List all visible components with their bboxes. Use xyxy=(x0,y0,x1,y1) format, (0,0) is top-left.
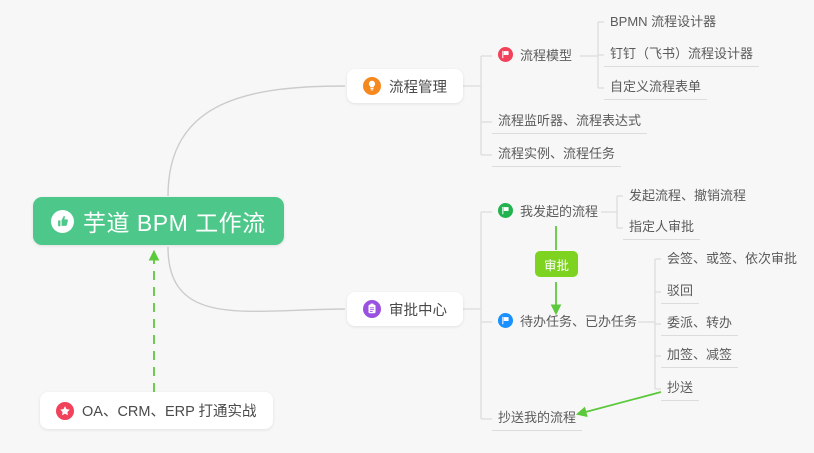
flag-icon-red xyxy=(498,47,513,62)
label-reject: 驳回 xyxy=(667,280,693,299)
label-process-model: 流程模型 xyxy=(520,45,572,64)
clipboard-icon xyxy=(363,300,381,318)
integration-node[interactable]: OA、CRM、ERP 打通实战 xyxy=(40,392,273,429)
node-custom-process-form[interactable]: 自定义流程表单 xyxy=(604,76,707,100)
label-assignee-approval: 指定人审批 xyxy=(629,216,694,235)
branch-label-approval-center: 审批中心 xyxy=(389,299,447,320)
label-cc-to-me: 抄送我的流程 xyxy=(498,407,576,426)
node-reject[interactable]: 驳回 xyxy=(661,280,699,304)
integration-node-label: OA、CRM、ERP 打通实战 xyxy=(82,400,257,421)
label-delegate-transfer: 委派、转办 xyxy=(667,312,732,331)
label-add-remove-sign: 加签、减签 xyxy=(667,344,732,363)
label-bpmn-designer: BPMN 流程设计器 xyxy=(610,11,716,30)
node-start-cancel[interactable]: 发起流程、撤销流程 xyxy=(623,184,752,208)
lightbulb-icon xyxy=(363,77,381,95)
label-instance-task: 流程实例、流程任务 xyxy=(498,143,615,162)
flag-icon-green xyxy=(498,203,513,218)
node-countersign[interactable]: 会签、或签、依次审批 xyxy=(661,247,803,271)
node-cc-to-me[interactable]: 抄送我的流程 xyxy=(492,407,582,431)
root-label: 芋道 BPM 工作流 xyxy=(83,204,266,238)
node-listener-expression[interactable]: 流程监听器、流程表达式 xyxy=(492,110,647,134)
thumbs-up-icon xyxy=(51,210,74,233)
label-cc: 抄送 xyxy=(667,377,693,396)
node-dingtalk-feishu-designer[interactable]: 钉钉（飞书）流程设计器 xyxy=(604,43,759,67)
branch-node-process-management[interactable]: 流程管理 xyxy=(347,69,463,103)
wire-root-to-process-management xyxy=(168,86,345,196)
branch-node-approval-center[interactable]: 审批中心 xyxy=(347,292,463,326)
label-todo-done-tasks: 待办任务、已办任务 xyxy=(520,311,637,330)
label-custom-process-form: 自定义流程表单 xyxy=(610,76,701,95)
node-my-initiated[interactable]: 我发起的流程 xyxy=(492,200,604,224)
label-dingtalk-feishu-designer: 钉钉（飞书）流程设计器 xyxy=(610,43,753,62)
wire-root-to-approval-center xyxy=(168,247,345,311)
node-process-model[interactable]: 流程模型 xyxy=(492,44,578,68)
node-cc[interactable]: 抄送 xyxy=(661,377,699,401)
label-countersign: 会签、或签、依次审批 xyxy=(667,248,797,267)
node-add-remove-sign[interactable]: 加签、减签 xyxy=(661,344,738,368)
star-icon xyxy=(56,402,74,420)
arrow-cc-to-cc-to-me xyxy=(578,392,661,414)
root-node[interactable]: 芋道 BPM 工作流 xyxy=(33,197,284,245)
branch-label-process-management: 流程管理 xyxy=(389,76,447,97)
node-bpmn-designer[interactable]: BPMN 流程设计器 xyxy=(604,10,722,34)
annotation-approval-pill: 审批 xyxy=(535,251,578,277)
mindmap-canvas: 芋道 BPM 工作流 流程管理 流程模型 BPMN 流程设计器 钉钉（飞书）流程 xyxy=(0,0,814,453)
label-start-cancel: 发起流程、撤销流程 xyxy=(629,185,746,204)
annotation-approval-label: 审批 xyxy=(544,255,569,274)
node-instance-task[interactable]: 流程实例、流程任务 xyxy=(492,143,621,167)
node-assignee-approval[interactable]: 指定人审批 xyxy=(623,216,700,240)
label-my-initiated: 我发起的流程 xyxy=(520,201,598,220)
node-delegate-transfer[interactable]: 委派、转办 xyxy=(661,312,738,336)
label-listener-expression: 流程监听器、流程表达式 xyxy=(498,110,641,129)
node-todo-done-tasks[interactable]: 待办任务、已办任务 xyxy=(492,310,643,334)
flag-icon-blue xyxy=(498,313,513,328)
